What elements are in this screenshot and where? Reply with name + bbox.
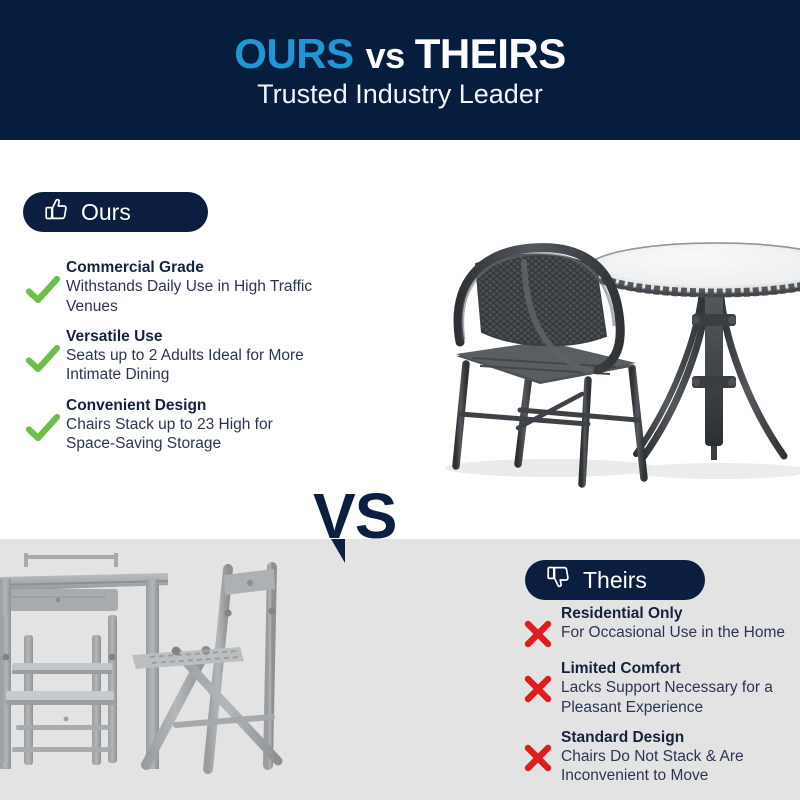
header-banner: OURSvsTHEIRS Trusted Industry Leader [0, 0, 800, 140]
feature-title: Versatile Use [66, 327, 320, 346]
theirs-feature-list: Residential Only For Occasional Use in t… [515, 604, 800, 797]
theirs-badge[interactable]: Theirs [525, 560, 705, 600]
ours-badge-label: Ours [81, 201, 131, 224]
x-icon [515, 728, 561, 772]
title-vs-word: vs [366, 35, 405, 76]
check-icon [20, 327, 66, 374]
thumbs-down-icon [545, 565, 571, 596]
theirs-product-photo [0, 539, 345, 800]
feature-title: Commercial Grade [66, 258, 320, 277]
list-item: Commercial Grade Withstands Daily Use in… [20, 258, 320, 316]
ours-badge[interactable]: Ours [23, 192, 208, 232]
feature-title: Convenient Design [66, 396, 320, 415]
feature-description: Withstands Daily Use in High Traffic Ven… [66, 277, 320, 315]
list-item: Limited Comfort Lacks Support Necessary … [515, 659, 800, 717]
versus-divider-label: VS [313, 484, 396, 548]
title-theirs-word: THEIRS [415, 30, 566, 77]
check-icon [20, 396, 66, 443]
x-icon [515, 604, 561, 648]
thumbs-up-icon [43, 197, 69, 228]
list-item: Residential Only For Occasional Use in t… [515, 604, 800, 648]
comparison-infographic: OURSvsTHEIRS Trusted Industry Leader [0, 0, 800, 800]
theirs-badge-label: Theirs [583, 569, 647, 592]
feature-description: Lacks Support Necessary for a Pleasant E… [561, 678, 800, 716]
ours-product-photo [420, 228, 800, 493]
check-icon [20, 258, 66, 305]
list-item: Standard Design Chairs Do Not Stack & Ar… [515, 728, 800, 786]
x-icon [515, 659, 561, 703]
list-item: Versatile Use Seats up to 2 Adults Ideal… [20, 327, 320, 385]
list-item: Convenient Design Chairs Stack up to 23 … [20, 396, 320, 454]
feature-title: Residential Only [561, 604, 800, 623]
feature-description: Chairs Stack up to 23 High for Space-Sav… [66, 415, 320, 453]
title-ours-word: OURS [234, 30, 353, 77]
feature-description: Chairs Do Not Stack & Are Inconvenient t… [561, 747, 800, 785]
page-title: OURSvsTHEIRS [234, 33, 565, 75]
ours-feature-list: Commercial Grade Withstands Daily Use in… [20, 258, 320, 464]
feature-description: Seats up to 2 Adults Ideal for More Inti… [66, 346, 320, 384]
header-subtitle: Trusted Industry Leader [257, 81, 543, 108]
feature-title: Limited Comfort [561, 659, 800, 678]
feature-description: For Occasional Use in the Home [561, 623, 800, 642]
feature-title: Standard Design [561, 728, 800, 747]
